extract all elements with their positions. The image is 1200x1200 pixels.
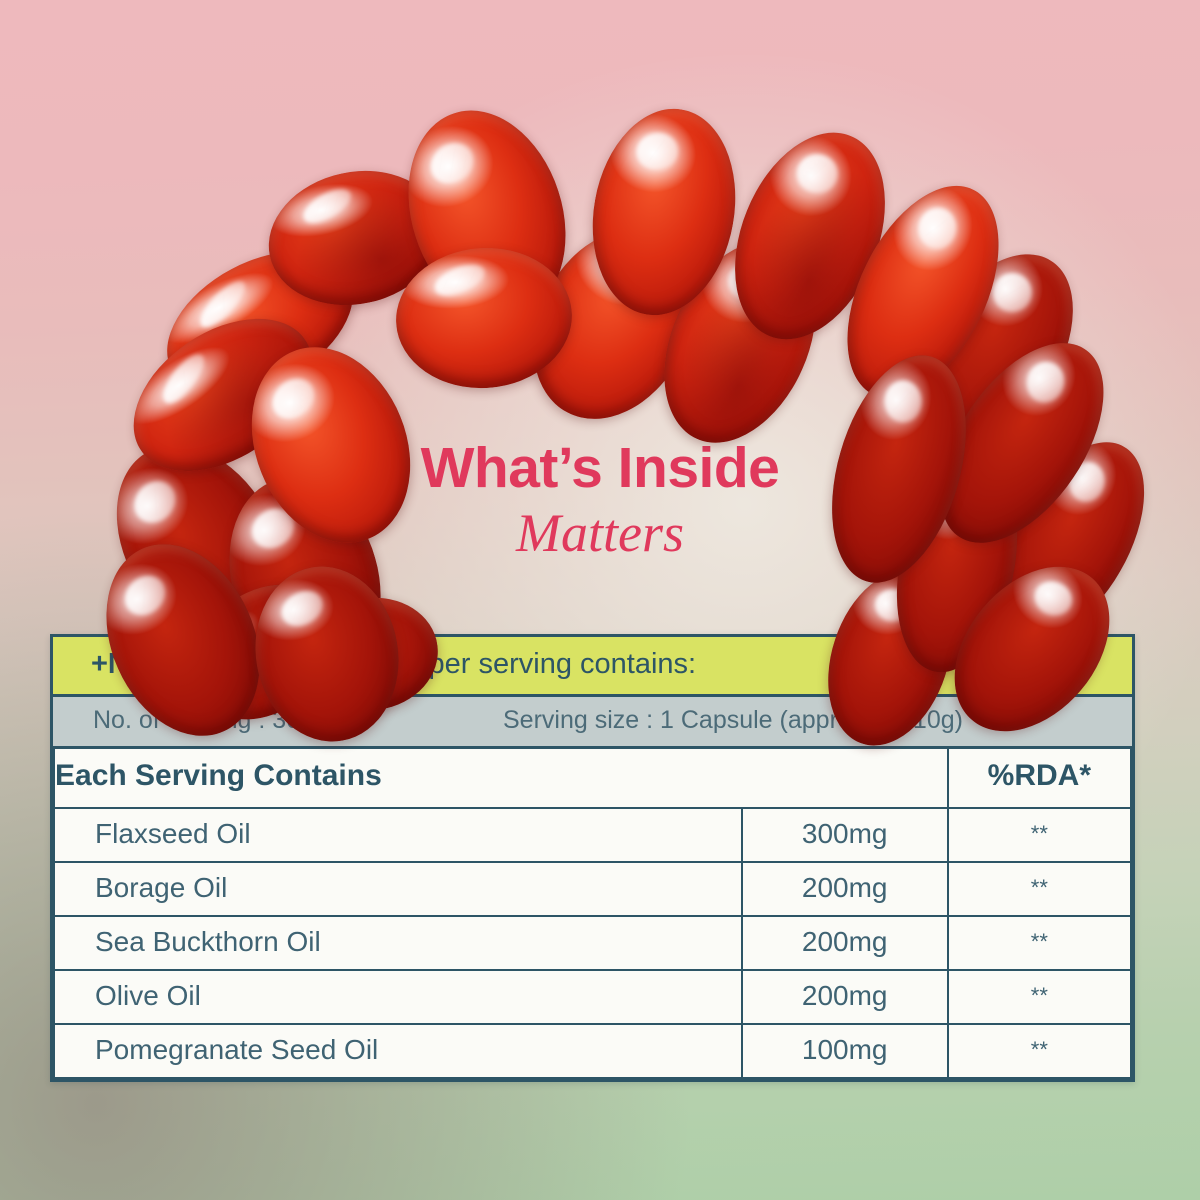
ingredient-name: Sea Buckthorn Oil: [54, 916, 742, 970]
ingredient-name: Flaxseed Oil: [54, 808, 742, 862]
ingredient-rda: **: [948, 970, 1131, 1024]
table-row: Borage Oil200mg**: [54, 862, 1131, 916]
ingredient-rda: **: [948, 1024, 1131, 1078]
ingredient-rda: **: [948, 862, 1131, 916]
table-row: Olive Oil200mg**: [54, 970, 1131, 1024]
ingredient-table: Each Serving Contains %RDA* Flaxseed Oil…: [53, 749, 1132, 1079]
table-row: Sea Buckthorn Oil200mg**: [54, 916, 1131, 970]
table-row: Pomegranate Seed Oil100mg**: [54, 1024, 1131, 1078]
table-row: Flaxseed Oil300mg**: [54, 808, 1131, 862]
column-header-name: Each Serving Contains: [54, 749, 742, 808]
panel-header-light: per serving contains:: [420, 648, 696, 680]
ingredient-amount: 200mg: [742, 970, 948, 1024]
ingredient-amount: 300mg: [742, 808, 948, 862]
column-header-amount: [742, 749, 948, 808]
ingredient-amount: 100mg: [742, 1024, 948, 1078]
ingredient-amount: 200mg: [742, 862, 948, 916]
ingredient-rda: **: [948, 808, 1131, 862]
ingredient-amount: 200mg: [742, 916, 948, 970]
ingredient-name: Borage Oil: [54, 862, 742, 916]
ingredient-name: Pomegranate Seed Oil: [54, 1024, 742, 1078]
table-header-row: Each Serving Contains %RDA*: [54, 749, 1131, 808]
ingredient-rda: **: [948, 916, 1131, 970]
column-header-rda: %RDA*: [948, 749, 1131, 808]
ingredient-name: Olive Oil: [54, 970, 742, 1024]
product-infographic: What’s Inside Matters +Nutritional Infor…: [0, 0, 1200, 1200]
